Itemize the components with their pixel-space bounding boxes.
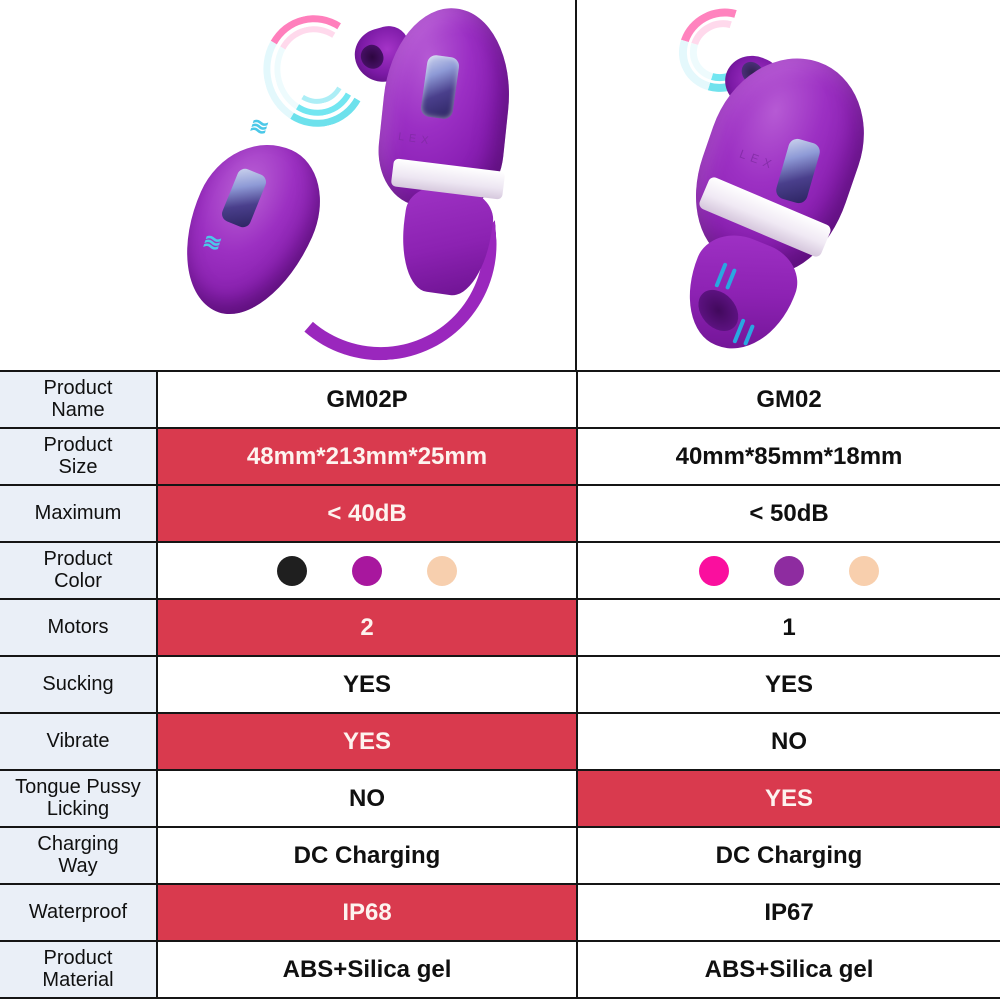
label-line: Tongue Pussy bbox=[0, 777, 156, 799]
label-line: Material bbox=[0, 970, 156, 992]
label-line: Size bbox=[0, 457, 156, 479]
spec-value-gm02p-product-name: GM02P bbox=[157, 371, 577, 428]
spec-value-gm02p-product-size: 48mm*213mm*25mm bbox=[157, 428, 577, 485]
product-comparison-page: ≈≈ L E X ≋ ≋ L E X bbox=[0, 0, 1000, 1000]
label-line: Product bbox=[0, 948, 156, 970]
table-row: Motors 2 1 bbox=[0, 599, 1000, 656]
color-swatch[interactable] bbox=[699, 556, 729, 586]
spec-value-gm02p-waterproof: IP68 bbox=[157, 884, 577, 941]
vibration-lines-icon-bottom: ≋ bbox=[202, 235, 223, 250]
spec-value-gm02-sucking: YES bbox=[577, 656, 1000, 713]
spec-value-gm02-product-size: 40mm*85mm*18mm bbox=[577, 428, 1000, 485]
vibration-lines-icon-top: ≋ bbox=[249, 119, 270, 134]
spec-value-gm02p-vibrate: YES bbox=[157, 713, 577, 770]
spec-label-product-size: Product Size bbox=[0, 428, 157, 485]
spec-label-product-color: Product Color bbox=[0, 542, 157, 599]
color-swatch[interactable] bbox=[849, 556, 879, 586]
table-row: Tongue Pussy Licking NO YES bbox=[0, 770, 1000, 827]
label-line: Sucking bbox=[0, 674, 156, 696]
table-row: Product Color bbox=[0, 542, 1000, 599]
spec-value-gm02-product-color bbox=[577, 542, 1000, 599]
spec-value-gm02-charging-way: DC Charging bbox=[577, 827, 1000, 884]
product-image-gm02p: ≈≈ L E X ≋ ≋ bbox=[0, 0, 577, 370]
label-line: Maximum bbox=[0, 503, 156, 525]
spec-label-vibrate: Vibrate bbox=[0, 713, 157, 770]
color-swatch[interactable] bbox=[774, 556, 804, 586]
spec-value-gm02p-charging-way: DC Charging bbox=[157, 827, 577, 884]
spec-comparison-table: Product Name GM02P GM02 Product Size 48m… bbox=[0, 370, 1000, 999]
table-row: Product Size 48mm*213mm*25mm 40mm*85mm*1… bbox=[0, 428, 1000, 485]
color-swatch[interactable] bbox=[352, 556, 382, 586]
spec-value-gm02p-product-material: ABS+Silica gel bbox=[157, 941, 577, 998]
label-line: Product bbox=[0, 378, 156, 400]
spec-label-tongue-pussy-licking: Tongue Pussy Licking bbox=[0, 770, 157, 827]
spec-label-sucking: Sucking bbox=[0, 656, 157, 713]
color-swatch[interactable] bbox=[427, 556, 457, 586]
spec-value-gm02-product-material: ABS+Silica gel bbox=[577, 941, 1000, 998]
label-line: Color bbox=[0, 571, 156, 593]
spec-label-maximum: Maximum bbox=[0, 485, 157, 542]
table-row: Waterproof IP68 IP67 bbox=[0, 884, 1000, 941]
label-line: Waterproof bbox=[0, 902, 156, 924]
spec-value-gm02-motors: 1 bbox=[577, 599, 1000, 656]
color-swatch-group-gm02 bbox=[578, 556, 1000, 586]
label-line: Name bbox=[0, 400, 156, 422]
spec-value-gm02-product-name: GM02 bbox=[577, 371, 1000, 428]
label-line: Way bbox=[0, 856, 156, 878]
spec-label-motors: Motors bbox=[0, 599, 157, 656]
table-row: Maximum < 40dB < 50dB bbox=[0, 485, 1000, 542]
spec-value-gm02p-product-color bbox=[157, 542, 577, 599]
label-line: Charging bbox=[0, 834, 156, 856]
label-line: Product bbox=[0, 549, 156, 571]
label-line: Licking bbox=[0, 799, 156, 821]
product-image-band: ≈≈ L E X ≋ ≋ L E X bbox=[0, 0, 1000, 370]
spec-value-gm02-vibrate: NO bbox=[577, 713, 1000, 770]
color-swatch[interactable] bbox=[277, 556, 307, 586]
spec-label-waterproof: Waterproof bbox=[0, 884, 157, 941]
label-line: Vibrate bbox=[0, 731, 156, 753]
spec-value-gm02-tongue-pussy-licking: YES bbox=[577, 770, 1000, 827]
spec-label-charging-way: Charging Way bbox=[0, 827, 157, 884]
label-line: Product bbox=[0, 435, 156, 457]
table-row: Vibrate YES NO bbox=[0, 713, 1000, 770]
spec-value-gm02p-sucking: YES bbox=[157, 656, 577, 713]
spec-label-product-material: Product Material bbox=[0, 941, 157, 998]
color-swatch-group-gm02p bbox=[158, 556, 576, 586]
product-image-gm02: L E X bbox=[577, 0, 1000, 370]
spec-table-body: Product Name GM02P GM02 Product Size 48m… bbox=[0, 371, 1000, 998]
table-row: Product Material ABS+Silica gel ABS+Sili… bbox=[0, 941, 1000, 998]
table-row: Charging Way DC Charging DC Charging bbox=[0, 827, 1000, 884]
spec-value-gm02p-motors: 2 bbox=[157, 599, 577, 656]
spec-value-gm02p-tongue-pussy-licking: NO bbox=[157, 770, 577, 827]
spec-label-product-name: Product Name bbox=[0, 371, 157, 428]
table-row: Product Name GM02P GM02 bbox=[0, 371, 1000, 428]
table-row: Sucking YES YES bbox=[0, 656, 1000, 713]
spec-value-gm02p-maximum: < 40dB bbox=[157, 485, 577, 542]
spec-value-gm02-waterproof: IP67 bbox=[577, 884, 1000, 941]
label-line: Motors bbox=[0, 617, 156, 639]
spec-value-gm02-maximum: < 50dB bbox=[577, 485, 1000, 542]
